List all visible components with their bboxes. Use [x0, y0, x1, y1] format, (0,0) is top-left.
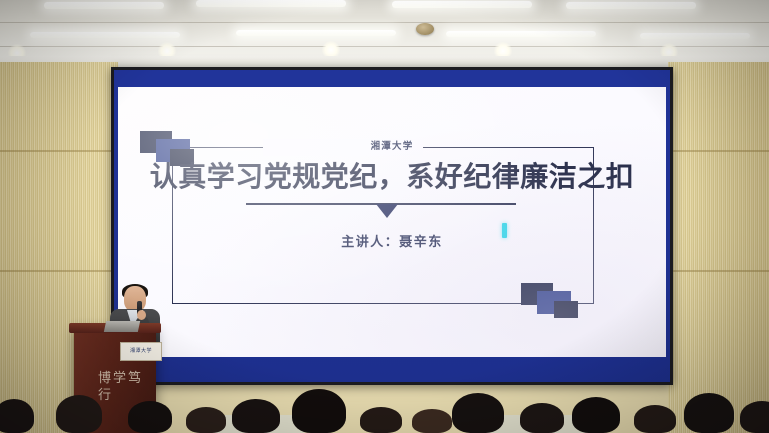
ceiling-light-strip: [44, 2, 164, 9]
presenter-hand: [137, 310, 146, 320]
ceiling-light-strip: [566, 2, 696, 9]
podium-top-surface: [69, 323, 161, 333]
laptop: [104, 321, 140, 332]
audience-head: [412, 409, 452, 433]
ceiling-light-strip: [236, 30, 396, 36]
audience-head: [360, 407, 402, 433]
audience-head: [186, 407, 226, 433]
podium: 湘潭大学 博学笃行: [74, 330, 156, 433]
audience-head: [292, 389, 346, 433]
audience-table: [196, 415, 306, 433]
slide-speaker-line: 主讲人：聂辛东: [118, 231, 666, 250]
ceiling-light-strip: [392, 1, 532, 8]
ceiling-light-strip: [196, 0, 346, 7]
ceiling-light-strip: [446, 31, 596, 37]
slide-organization: 湘潭大学: [118, 138, 666, 152]
ceiling-light-strip: [640, 33, 750, 39]
ceiling-light-strip: [30, 32, 180, 38]
podium-plaque-text: 湘潭大学: [121, 343, 161, 360]
audience-table: [470, 415, 600, 433]
smoke-detector-icon: [416, 23, 434, 35]
podium-plaque: 湘潭大学: [120, 342, 162, 361]
decoration-square-bottom-right-3: [554, 301, 578, 318]
audience-head: [232, 399, 280, 433]
audience-head: [572, 397, 620, 433]
audience-head: [520, 403, 564, 433]
audience-head: [452, 393, 504, 433]
lecture-hall-scene: 湘潭大学 认真学习党规党纪，系好纪律廉洁之扣 主讲人：聂辛东 湘潭大学 博学笃行: [0, 0, 769, 433]
podium-calligraphy: 博学笃行: [98, 370, 154, 404]
triangle-marker-icon: [376, 204, 398, 218]
presentation-slide: 湘潭大学 认真学习党规党纪，系好纪律廉洁之扣 主讲人：聂辛东: [118, 87, 666, 357]
wall-right-panelling: [668, 62, 769, 433]
slide-title: 认真学习党规党纪，系好纪律廉洁之扣: [118, 155, 666, 195]
